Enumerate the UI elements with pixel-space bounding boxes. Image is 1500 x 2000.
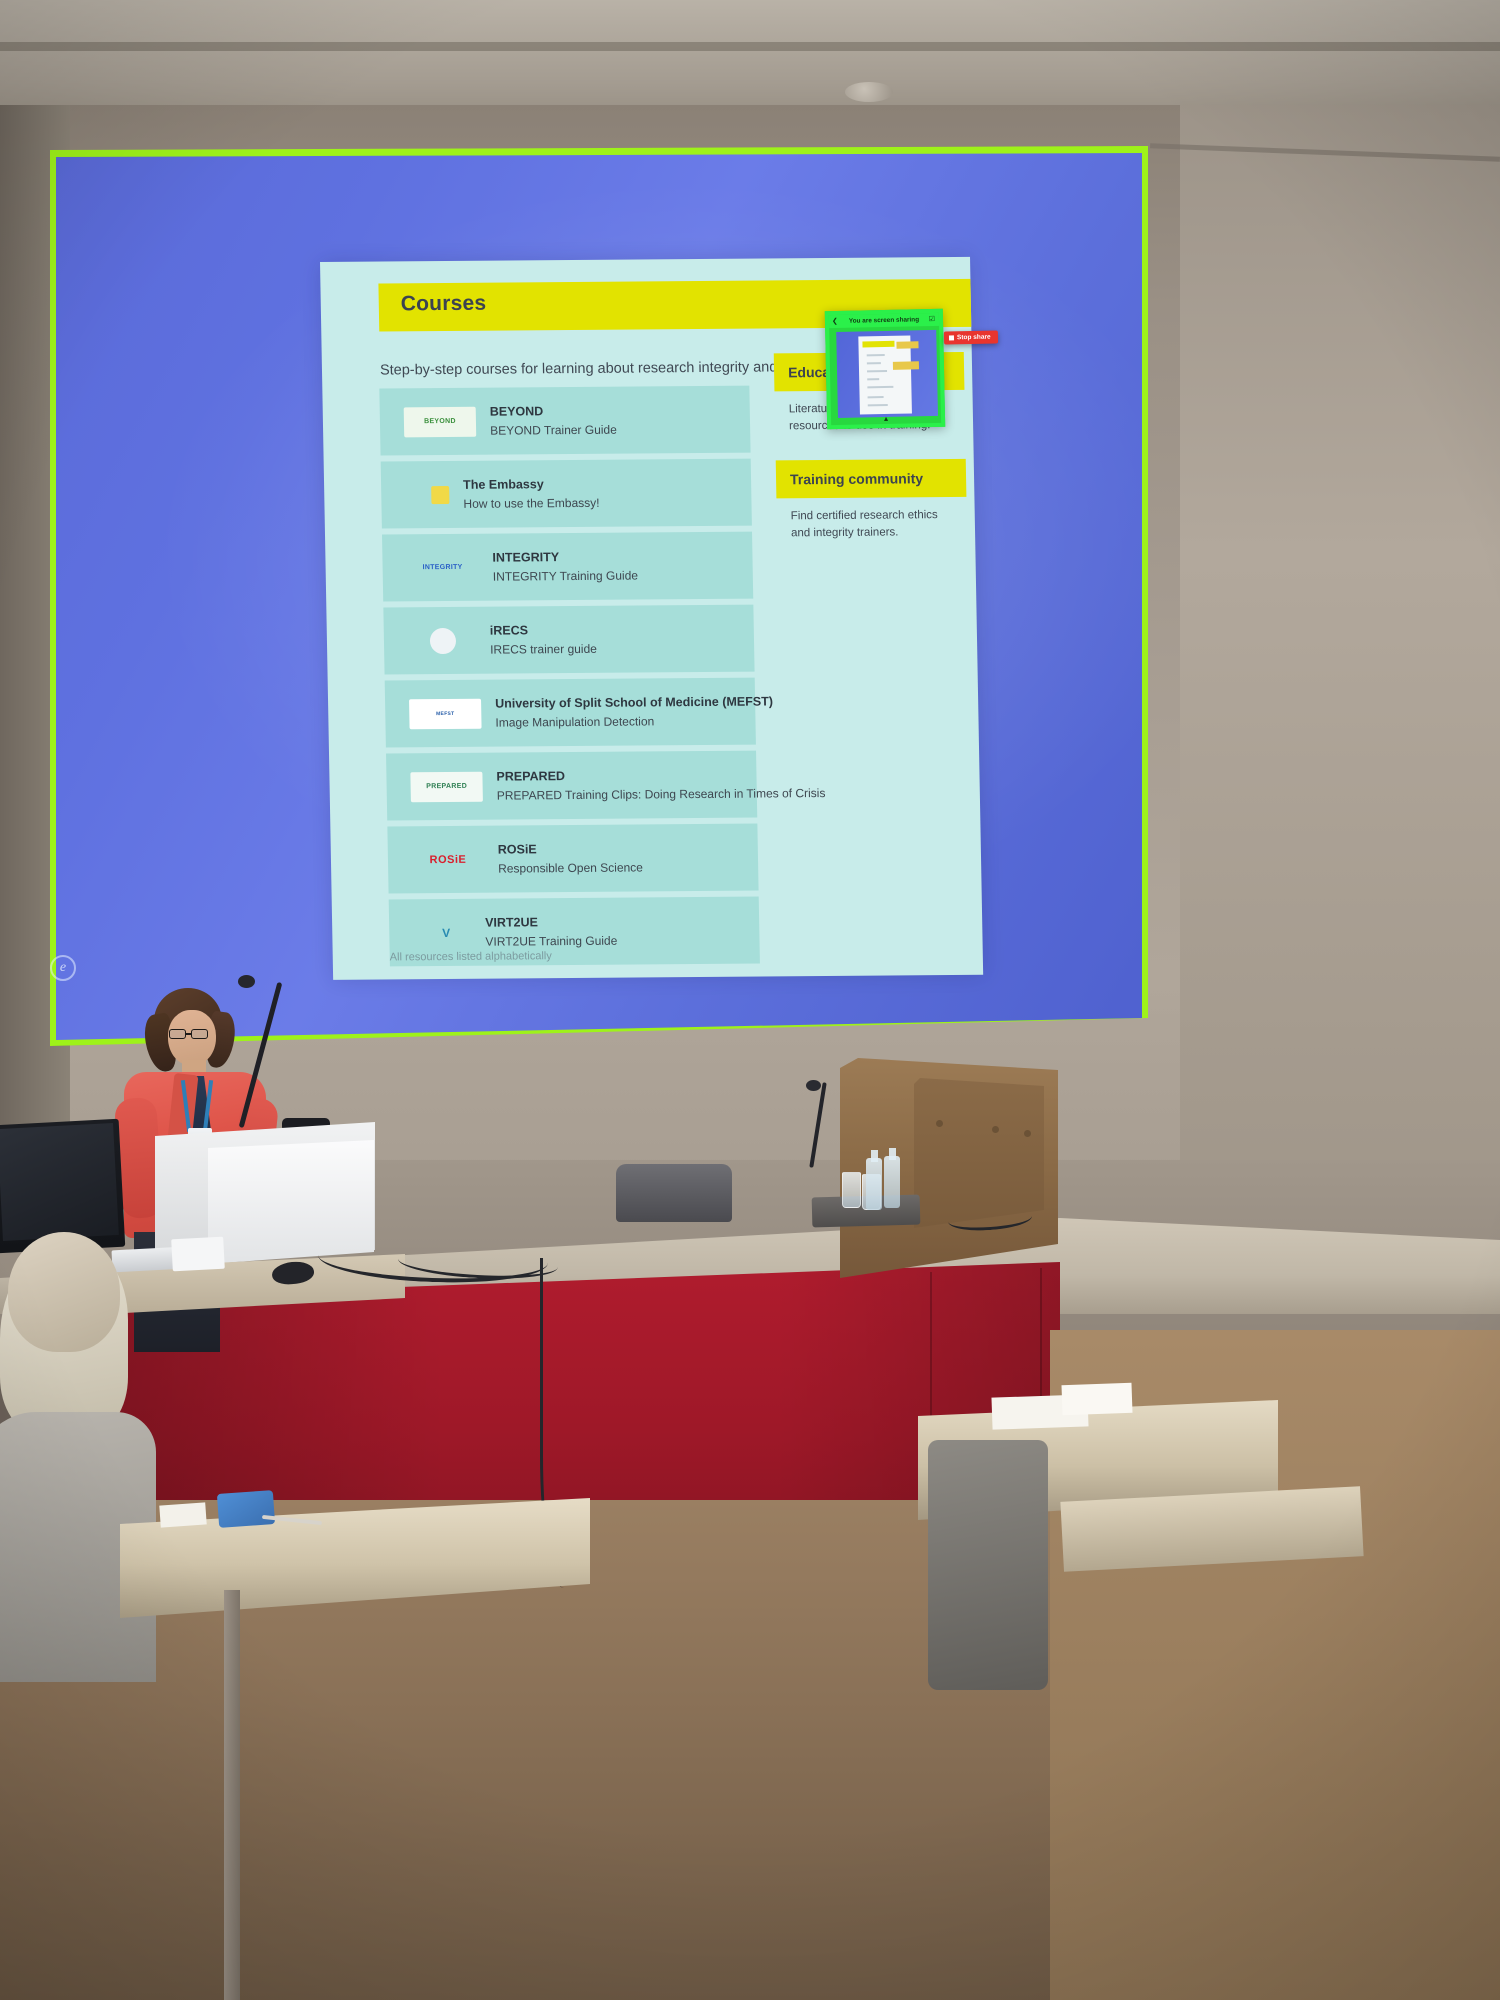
ceiling-beam bbox=[0, 42, 1500, 51]
expand-caret-icon[interactable]: ▲ bbox=[883, 416, 890, 423]
virt2ue-logo-icon: V bbox=[435, 917, 458, 947]
eyeglasses-left-icon bbox=[169, 1029, 186, 1039]
course-description: Responsible Open Science bbox=[498, 859, 643, 876]
list-item[interactable]: ROSiE ROSiE Responsible Open Science bbox=[387, 824, 758, 894]
course-title: ROSiE bbox=[498, 841, 643, 858]
share-preview-thumbnail[interactable] bbox=[836, 330, 938, 418]
list-item[interactable]: The Embassy How to use the Embassy! bbox=[381, 459, 752, 529]
course-title: iRECS bbox=[490, 622, 597, 639]
audience-desk-left-leg bbox=[224, 1590, 240, 2000]
lectern-knob bbox=[936, 1120, 943, 1127]
thumbnail-line bbox=[867, 386, 893, 389]
right-wall-panel bbox=[1180, 105, 1500, 1225]
paper-sheet bbox=[1061, 1383, 1132, 1415]
microphone-icon bbox=[806, 1080, 821, 1091]
stop-share-button[interactable]: Stop share bbox=[944, 330, 998, 344]
eyeglasses-right-icon bbox=[191, 1029, 208, 1039]
embassy-logo-icon bbox=[431, 485, 449, 503]
confidence-monitor-screen bbox=[0, 1123, 119, 1241]
thumbnail-line bbox=[868, 404, 888, 406]
ceiling-vent-icon bbox=[845, 82, 893, 102]
list-item[interactable]: MEFST University of Split School of Medi… bbox=[385, 678, 756, 748]
stage-chair bbox=[616, 1164, 732, 1222]
list-item[interactable]: PREPARED PREPARED PREPARED Training Clip… bbox=[386, 751, 757, 821]
course-description: How to use the Embassy! bbox=[463, 494, 599, 511]
stop-share-label: Stop share bbox=[957, 334, 991, 342]
screen-watermark-icon: e bbox=[50, 955, 76, 981]
training-community-card-header[interactable]: Training community bbox=[776, 459, 967, 498]
course-title: The Embassy bbox=[463, 476, 599, 493]
list-item[interactable]: iRECS IRECS trainer guide bbox=[383, 605, 754, 675]
course-description: VIRT2UE Training Guide bbox=[485, 932, 617, 949]
lectern-panel bbox=[914, 1078, 1044, 1228]
thumbnail-button-2 bbox=[893, 361, 919, 370]
shield-icon[interactable]: ☑ bbox=[929, 315, 935, 323]
thumbnail-line bbox=[867, 370, 887, 372]
smartphone[interactable] bbox=[217, 1490, 275, 1528]
stop-square-icon bbox=[949, 335, 954, 340]
course-description: IRECS trainer guide bbox=[490, 640, 597, 657]
eyeglasses-bridge bbox=[186, 1033, 192, 1035]
course-title: BEYOND bbox=[490, 403, 617, 420]
thumbnail-button-1 bbox=[896, 341, 918, 348]
presenter-microphone-icon bbox=[238, 975, 255, 988]
course-description: PREPARED Training Clips: Doing Research … bbox=[497, 785, 826, 804]
thumbnail-line bbox=[867, 362, 881, 364]
thumbnail-page bbox=[858, 335, 912, 414]
course-title: PREPARED bbox=[496, 766, 825, 785]
thumbnail-line bbox=[867, 354, 885, 356]
water-bottle bbox=[866, 1158, 882, 1210]
bottle-neck bbox=[871, 1150, 878, 1162]
water-bottle bbox=[884, 1156, 900, 1208]
bottle-neck bbox=[889, 1148, 896, 1160]
thumbnail-line bbox=[867, 378, 879, 380]
course-title: University of Split School of Medicine (… bbox=[495, 694, 773, 712]
course-description: INTEGRITY Training Guide bbox=[493, 567, 638, 584]
course-list: BEYOND BEYOND BEYOND Trainer Guide The E… bbox=[379, 386, 760, 973]
share-status-bar: ❮ You are screen sharing ☑ bbox=[829, 313, 939, 328]
integrity-logo-icon: INTEGRITY bbox=[406, 552, 479, 583]
training-community-card-body: Find certified research ethics and integ… bbox=[777, 507, 968, 542]
desk-device bbox=[171, 1237, 225, 1272]
course-title: VIRT2UE bbox=[485, 914, 617, 931]
course-description: BEYOND Trainer Guide bbox=[490, 421, 617, 438]
training-community-card-title: Training community bbox=[790, 471, 923, 488]
prepared-logo-icon: PREPARED bbox=[410, 771, 483, 802]
thumbnail-line bbox=[868, 396, 884, 398]
lectern-knob bbox=[992, 1126, 999, 1133]
screen-share-panel[interactable]: ❮ You are screen sharing ☑ ▲ bbox=[825, 309, 945, 429]
list-item[interactable]: INTEGRITY INTEGRITY INTEGRITY Training G… bbox=[382, 532, 753, 602]
irecs-logo-icon bbox=[430, 627, 456, 653]
thumbnail-header-bar bbox=[862, 341, 894, 348]
lecture-hall-scene: e Courses Step-by-step courses for learn… bbox=[0, 0, 1500, 2000]
page-title: Courses bbox=[401, 292, 487, 317]
chevron-left-icon[interactable]: ❮ bbox=[832, 317, 838, 325]
rosie-logo-icon: ROSiE bbox=[412, 844, 485, 875]
list-item[interactable]: BEYOND BEYOND BEYOND Trainer Guide bbox=[379, 386, 750, 456]
audience-member-head bbox=[8, 1232, 120, 1352]
share-status-label: You are screen sharing bbox=[849, 316, 919, 324]
lectern-knob bbox=[1024, 1130, 1031, 1137]
course-title: INTEGRITY bbox=[492, 549, 637, 566]
water-glass bbox=[842, 1172, 861, 1208]
course-description: Image Manipulation Detection bbox=[495, 712, 773, 730]
audience-chair bbox=[928, 1440, 1048, 1690]
beyond-logo-icon: BEYOND bbox=[404, 406, 477, 437]
mefst-logo-icon: MEFST bbox=[409, 698, 482, 729]
list-overflow-hint: All resources listed alphabetically bbox=[390, 949, 761, 980]
paper-sheet bbox=[159, 1502, 206, 1527]
